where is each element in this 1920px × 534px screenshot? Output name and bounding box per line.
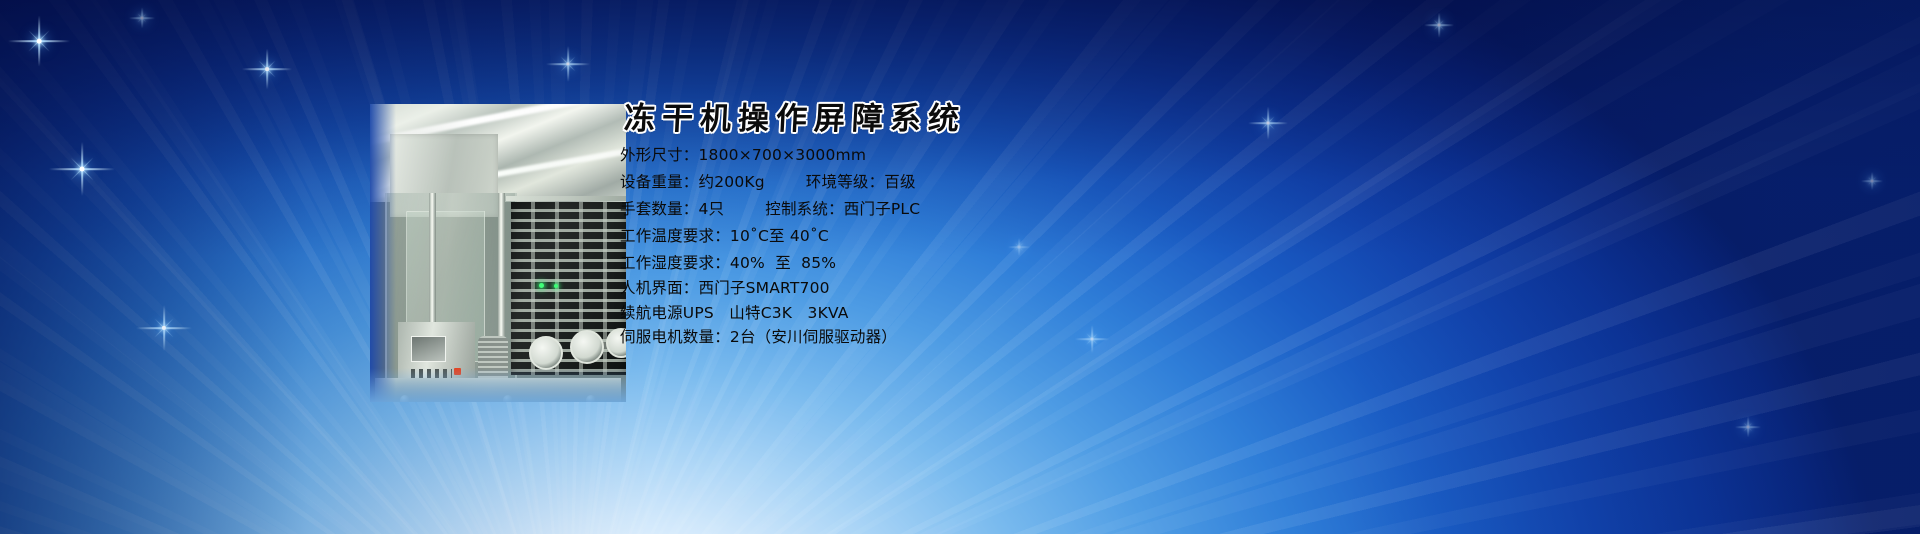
spec-line-temperature: 工作温度要求：10˚C至 40˚C: [620, 229, 1320, 245]
page-title: 冻干机操作屏障系统: [623, 104, 1321, 135]
sparkle-star-icon: [49, 136, 115, 202]
photo-bottom-fade: [370, 368, 626, 402]
sparkle-star-icon: [129, 5, 155, 31]
product-photo: [370, 104, 626, 402]
photo-left-fade: [370, 104, 396, 402]
product-banner: 冻干机操作屏障系统 外形尺寸：1800×700×3000mm 设备重量：约200…: [0, 0, 1920, 534]
spec-line-servo: 伺服电机数量：2台（安川伺服驱动器）: [620, 330, 1320, 346]
sparkle-star-icon: [8, 10, 70, 72]
spec-line-humidity: 工作湿度要求：40% 至 85%: [620, 256, 1320, 272]
text-content-block: 冻干机操作屏障系统 外形尺寸：1800×700×3000mm 设备重量：约200…: [620, 104, 1320, 355]
sparkle-star-icon: [242, 44, 292, 94]
spec-line-dimensions: 外形尺寸：1800×700×3000mm: [620, 148, 1320, 164]
sparkle-star-icon: [1861, 170, 1883, 192]
sparkle-star-icon: [1735, 414, 1761, 440]
sparkle-star-icon: [1424, 10, 1454, 40]
sparkle-star-icon: [136, 300, 192, 356]
sparkle-star-icon: [546, 42, 590, 86]
spec-line-ups: 续航电源UPS 山特C3K 3KVA: [620, 306, 1320, 322]
spec-line-weight-grade: 设备重量：约200Kg 环境等级：百级: [620, 175, 1320, 191]
spec-line-hmi: 人机界面：西门子SMART700: [620, 281, 1320, 297]
spec-line-gloves-plc: 手套数量：4只 控制系统：西门子PLC: [620, 202, 1320, 218]
photo-gloss-overlay: [370, 104, 626, 402]
